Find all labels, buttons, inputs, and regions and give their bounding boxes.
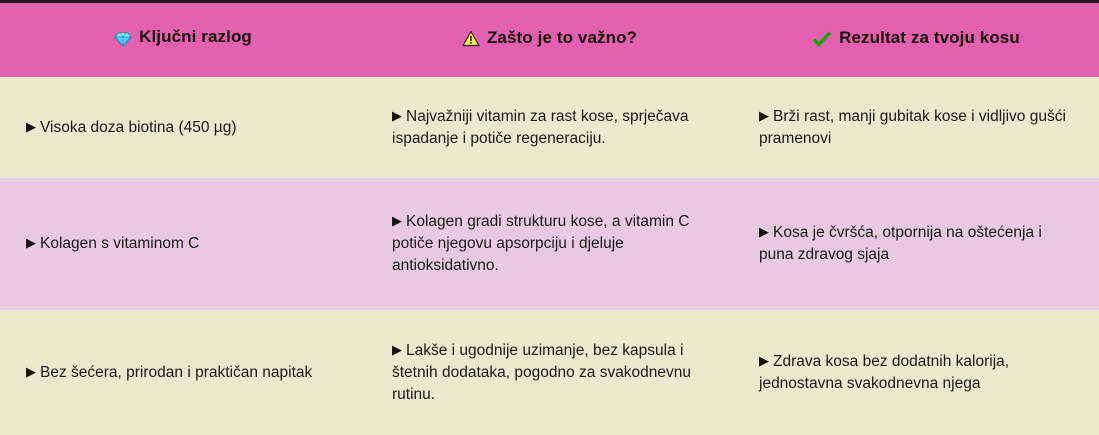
table-row: ▶Visoka doza biotina (450 µg) ▶Najvažnij… xyxy=(0,77,1099,178)
cell-reason-text: Kolagen s vitaminom C xyxy=(40,235,199,252)
table-header: Ključni razlog Zašto je to važno? xyxy=(0,3,1099,77)
cell-result: ▶Kosa je čvršća, otpornija na oštećenja … xyxy=(733,178,1099,310)
comparison-table: Ključni razlog Zašto je to važno? xyxy=(0,3,1099,435)
cell-result-text: Brži rast, manji gubitak kose i vidljivo… xyxy=(759,108,1066,147)
comparison-table-container: Ključni razlog Zašto je to važno? xyxy=(0,0,1099,435)
cell-why: ▶Kolagen gradi strukturu kose, a vitamin… xyxy=(366,178,733,310)
column-header-result: Rezultat za tvoju kosu xyxy=(733,3,1099,77)
table-body: ▶Visoka doza biotina (450 µg) ▶Najvažnij… xyxy=(0,77,1099,435)
bullet-marker-icon: ▶ xyxy=(26,235,36,250)
bullet-marker-icon: ▶ xyxy=(759,224,769,239)
cell-reason: ▶Kolagen s vitaminom C xyxy=(0,178,366,310)
header-row: Ključni razlog Zašto je to važno? xyxy=(0,3,1099,77)
table-row: ▶Kolagen s vitaminom C ▶Kolagen gradi st… xyxy=(0,178,1099,310)
cell-result-text: Kosa je čvršća, otpornija na oštećenja i… xyxy=(759,224,1042,263)
cell-reason-text: Visoka doza biotina (450 µg) xyxy=(40,119,237,136)
column-header-result-label: Rezultat za tvoju kosu xyxy=(839,29,1020,48)
cell-result: ▶Brži rast, manji gubitak kose i vidljiv… xyxy=(733,77,1099,178)
bullet-marker-icon: ▶ xyxy=(759,108,769,123)
bullet-marker-icon: ▶ xyxy=(759,353,769,368)
check-mark-icon xyxy=(812,30,832,47)
cell-reason-text: Bez šećera, prirodan i praktičan napitak xyxy=(40,364,312,381)
cell-reason: ▶Bez šećera, prirodan i praktičan napita… xyxy=(0,310,366,435)
warning-triangle-icon xyxy=(462,30,480,47)
cell-why: ▶Najvažniji vitamin za rast kose, sprječ… xyxy=(366,77,733,178)
cell-why-text: Najvažniji vitamin za rast kose, sprječa… xyxy=(392,108,689,147)
column-header-reason-label: Ključni razlog xyxy=(139,28,252,47)
cell-why-text: Kolagen gradi strukturu kose, a vitamin … xyxy=(392,213,689,274)
cell-reason: ▶Visoka doza biotina (450 µg) xyxy=(0,77,366,178)
cell-result: ▶Zdrava kosa bez dodatnih kalorija, jedn… xyxy=(733,310,1099,435)
column-header-why-label: Zašto je to važno? xyxy=(487,29,637,48)
column-header-why: Zašto je to važno? xyxy=(366,3,733,77)
column-header-reason: Ključni razlog xyxy=(0,3,366,77)
bullet-marker-icon: ▶ xyxy=(392,108,402,123)
gem-diamond-icon xyxy=(114,30,132,48)
bullet-marker-icon: ▶ xyxy=(392,213,402,228)
cell-why: ▶Lakše i ugodnije uzimanje, bez kapsula … xyxy=(366,310,733,435)
table-row: ▶Bez šećera, prirodan i praktičan napita… xyxy=(0,310,1099,435)
cell-result-text: Zdrava kosa bez dodatnih kalorija, jedno… xyxy=(759,353,1009,392)
bullet-marker-icon: ▶ xyxy=(26,119,36,134)
bullet-marker-icon: ▶ xyxy=(26,364,36,379)
bullet-marker-icon: ▶ xyxy=(392,342,402,357)
cell-why-text: Lakše i ugodnije uzimanje, bez kapsula i… xyxy=(392,342,691,403)
